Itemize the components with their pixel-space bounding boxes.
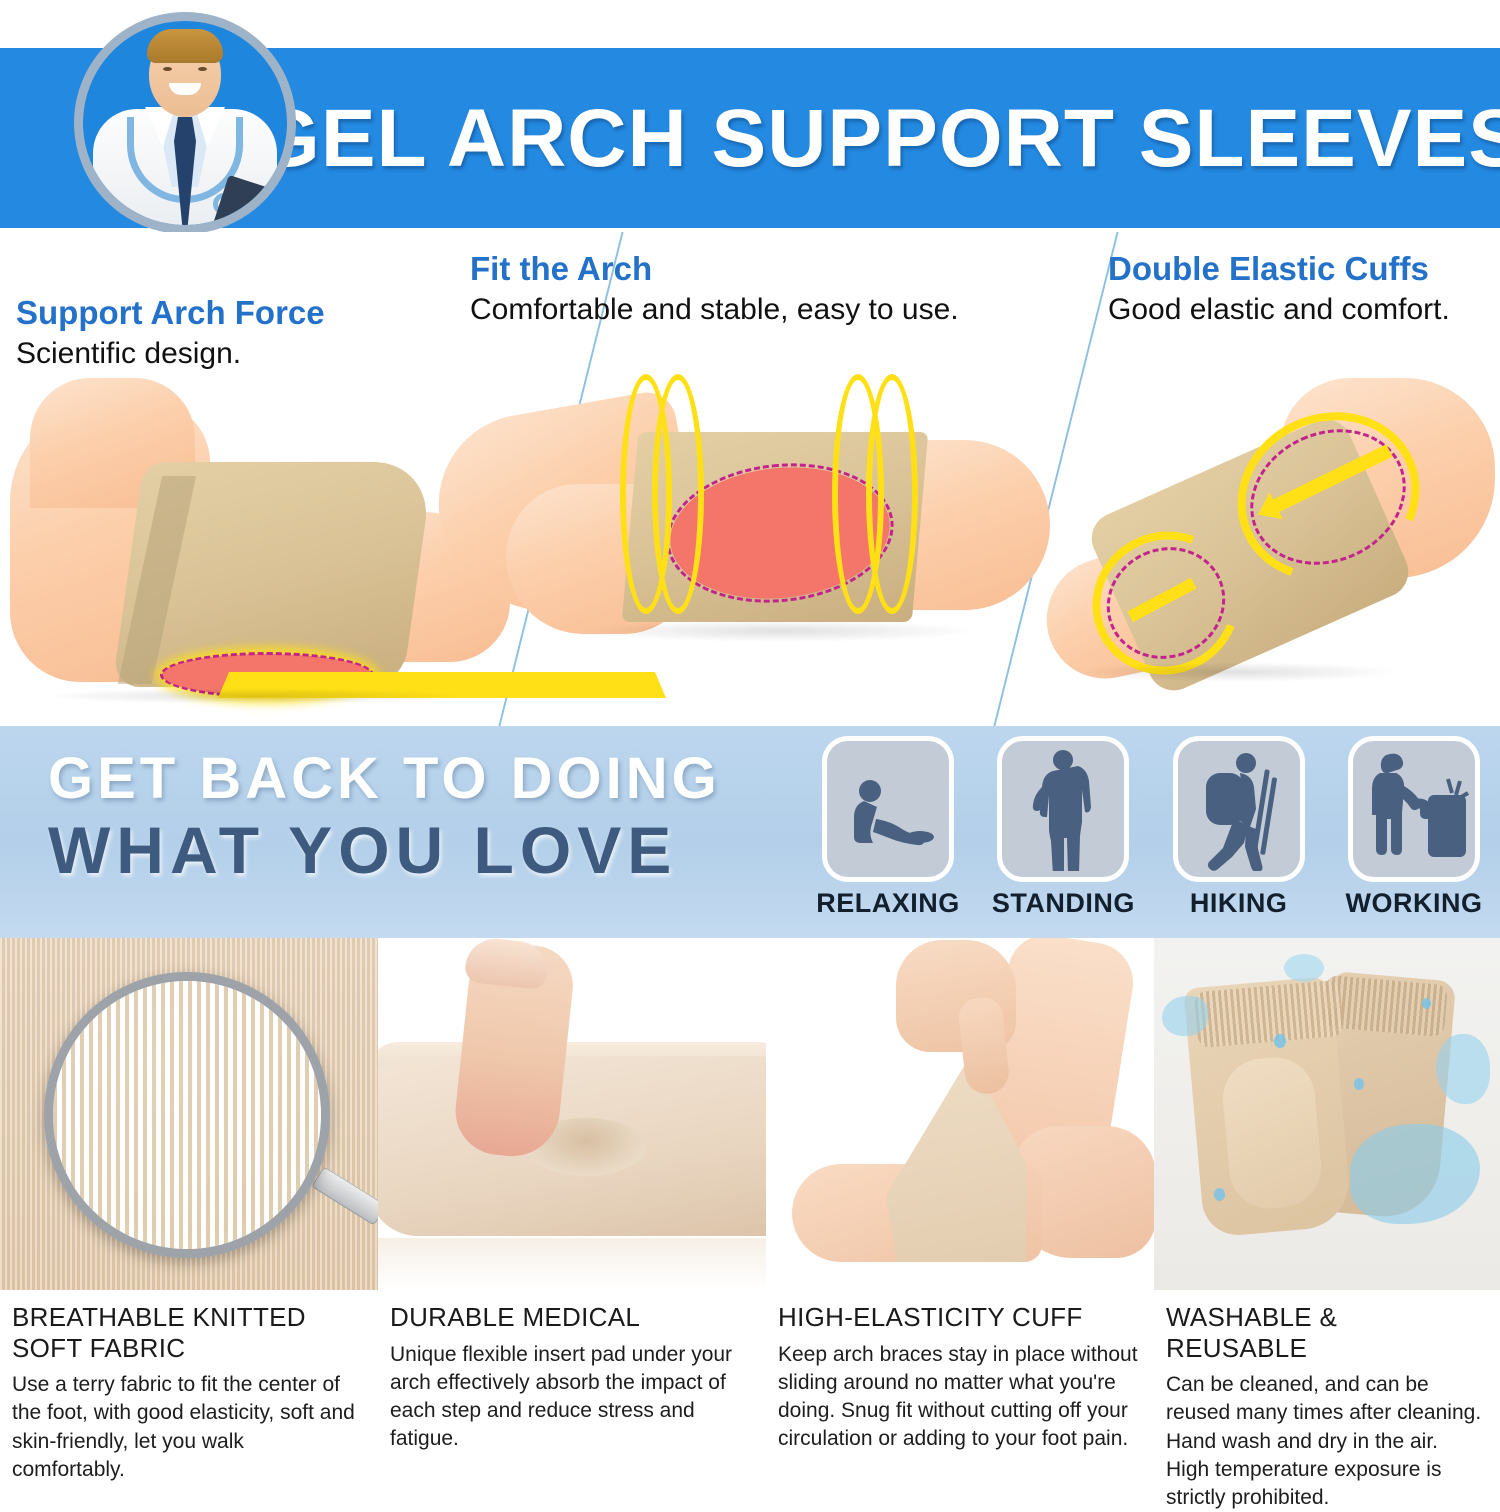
water-splash-left-icon [1162,996,1208,1036]
doctor-hair [147,29,223,63]
activity-tile [997,736,1129,882]
water-drop-icon [1214,1188,1225,1201]
banner-copy: GET BACK TO DOING WHAT YOU LOVE [48,750,721,888]
compression-ring-4 [866,374,918,614]
activity-tile [1348,736,1480,882]
feature-panel: Support Arch Force Scientific design. Fi… [0,232,1500,726]
description-2-body: Unique flexible insert pad under your ar… [390,1341,750,1454]
activity-relaxing: RELAXING [812,736,964,932]
feature-3-subtitle: Good elastic and comfort. [1108,292,1450,328]
description-1-title: BREATHABLE KNITTED SOFT FABRIC [12,1302,362,1363]
doctor-eye-right [198,67,207,71]
activity-hiking: HIKING [1163,736,1315,932]
header: GEL ARCH SUPPORT SLEEVES [0,0,1500,232]
activity-label: WORKING [1345,888,1482,919]
banner-line-1: GET BACK TO DOING [48,750,721,808]
finger-pressing-gel-pad-photo [378,938,766,1290]
fit-the-arch-illustration [430,384,1050,704]
description-4-title: WASHABLE & REUSABLE [1166,1302,1484,1363]
avatar-photo [83,21,287,225]
feature-2-title: Fit the Arch [470,250,959,288]
page-title: GEL ARCH SUPPORT SLEEVES [300,66,1480,211]
hand-stretching-cuff-on-foot-photo [766,938,1154,1290]
description-2-title: DURABLE MEDICAL [390,1302,750,1333]
description-block-1: BREATHABLE KNITTED SOFT FABRIC Use a ter… [0,1290,378,1465]
banner-line-2: WHAT YOU LOVE [48,814,721,888]
feature-1: Support Arch Force Scientific design. [16,294,325,372]
feature-3: Double Elastic Cuffs Good elastic and co… [1108,250,1450,328]
foot-shadow [40,688,470,704]
description-block-2: DURABLE MEDICAL Unique flexible insert p… [378,1290,766,1465]
person-working-icon [1356,749,1472,869]
feature-3-title: Double Elastic Cuffs [1108,250,1450,288]
person-hiking-icon [1184,747,1294,871]
gel-inlay [1220,1054,1325,1211]
knit-weave-detail [53,981,321,1249]
water-drop-icon [1354,1078,1364,1090]
water-drop-icon [1422,998,1431,1009]
surface-reflection [378,1238,766,1290]
description-3-body: Keep arch braces stay in place without s… [778,1341,1138,1454]
activity-tile [1173,736,1305,882]
foot-shadow [1070,662,1400,682]
activity-list: RELAXING STANDING [812,736,1490,932]
water-drop-icon [1274,1034,1286,1048]
doctor-avatar [68,4,303,236]
activity-label: HIKING [1190,888,1288,919]
activity-tile [822,736,954,882]
description-block-4: WASHABLE & REUSABLE Can be cleaned, and … [1154,1290,1500,1465]
activity-label: STANDING [992,888,1135,919]
water-splash-top-icon [1284,954,1324,982]
lifestyle-banner: GET BACK TO DOING WHAT YOU LOVE RELAXING [0,726,1500,938]
magnifier-lens-icon [44,972,330,1258]
compression-ring-2 [652,374,704,614]
activity-label: RELAXING [816,888,960,919]
person-sitting-icon [836,757,940,861]
feature-1-subtitle: Scientific design. [16,336,325,372]
description-1-body: Use a terry fabric to fit the center of … [12,1371,362,1484]
description-4-body: Can be cleaned, and can be reused many t… [1166,1371,1484,1512]
avatar-ring [74,12,296,234]
feature-2-subtitle: Comfortable and stable, easy to use. [470,292,959,328]
feature-descriptions: BREATHABLE KNITTED SOFT FABRIC Use a ter… [0,1290,1500,1465]
description-3-title: HIGH-ELASTICITY CUFF [778,1302,1138,1333]
feature-2: Fit the Arch Comfortable and stable, eas… [470,250,959,328]
double-elastic-cuffs-illustration [1030,384,1500,704]
person-standing-icon [1011,747,1115,871]
magnified-knitted-fabric-photo [0,938,378,1290]
description-block-3: HIGH-ELASTICITY CUFF Keep arch braces st… [766,1290,1154,1465]
water-splash-right-icon [1436,1034,1490,1104]
activity-working: WORKING [1338,736,1490,932]
foot-shadow [580,620,980,642]
product-photo-grid [0,938,1500,1290]
sleeves-with-water-splash-photo [1154,938,1500,1290]
feature-1-title: Support Arch Force [16,294,325,332]
doctor-eye-left [163,67,172,71]
product-infographic: GEL ARCH SUPPORT SLEEVES [0,0,1500,1465]
activity-standing: STANDING [987,736,1139,932]
